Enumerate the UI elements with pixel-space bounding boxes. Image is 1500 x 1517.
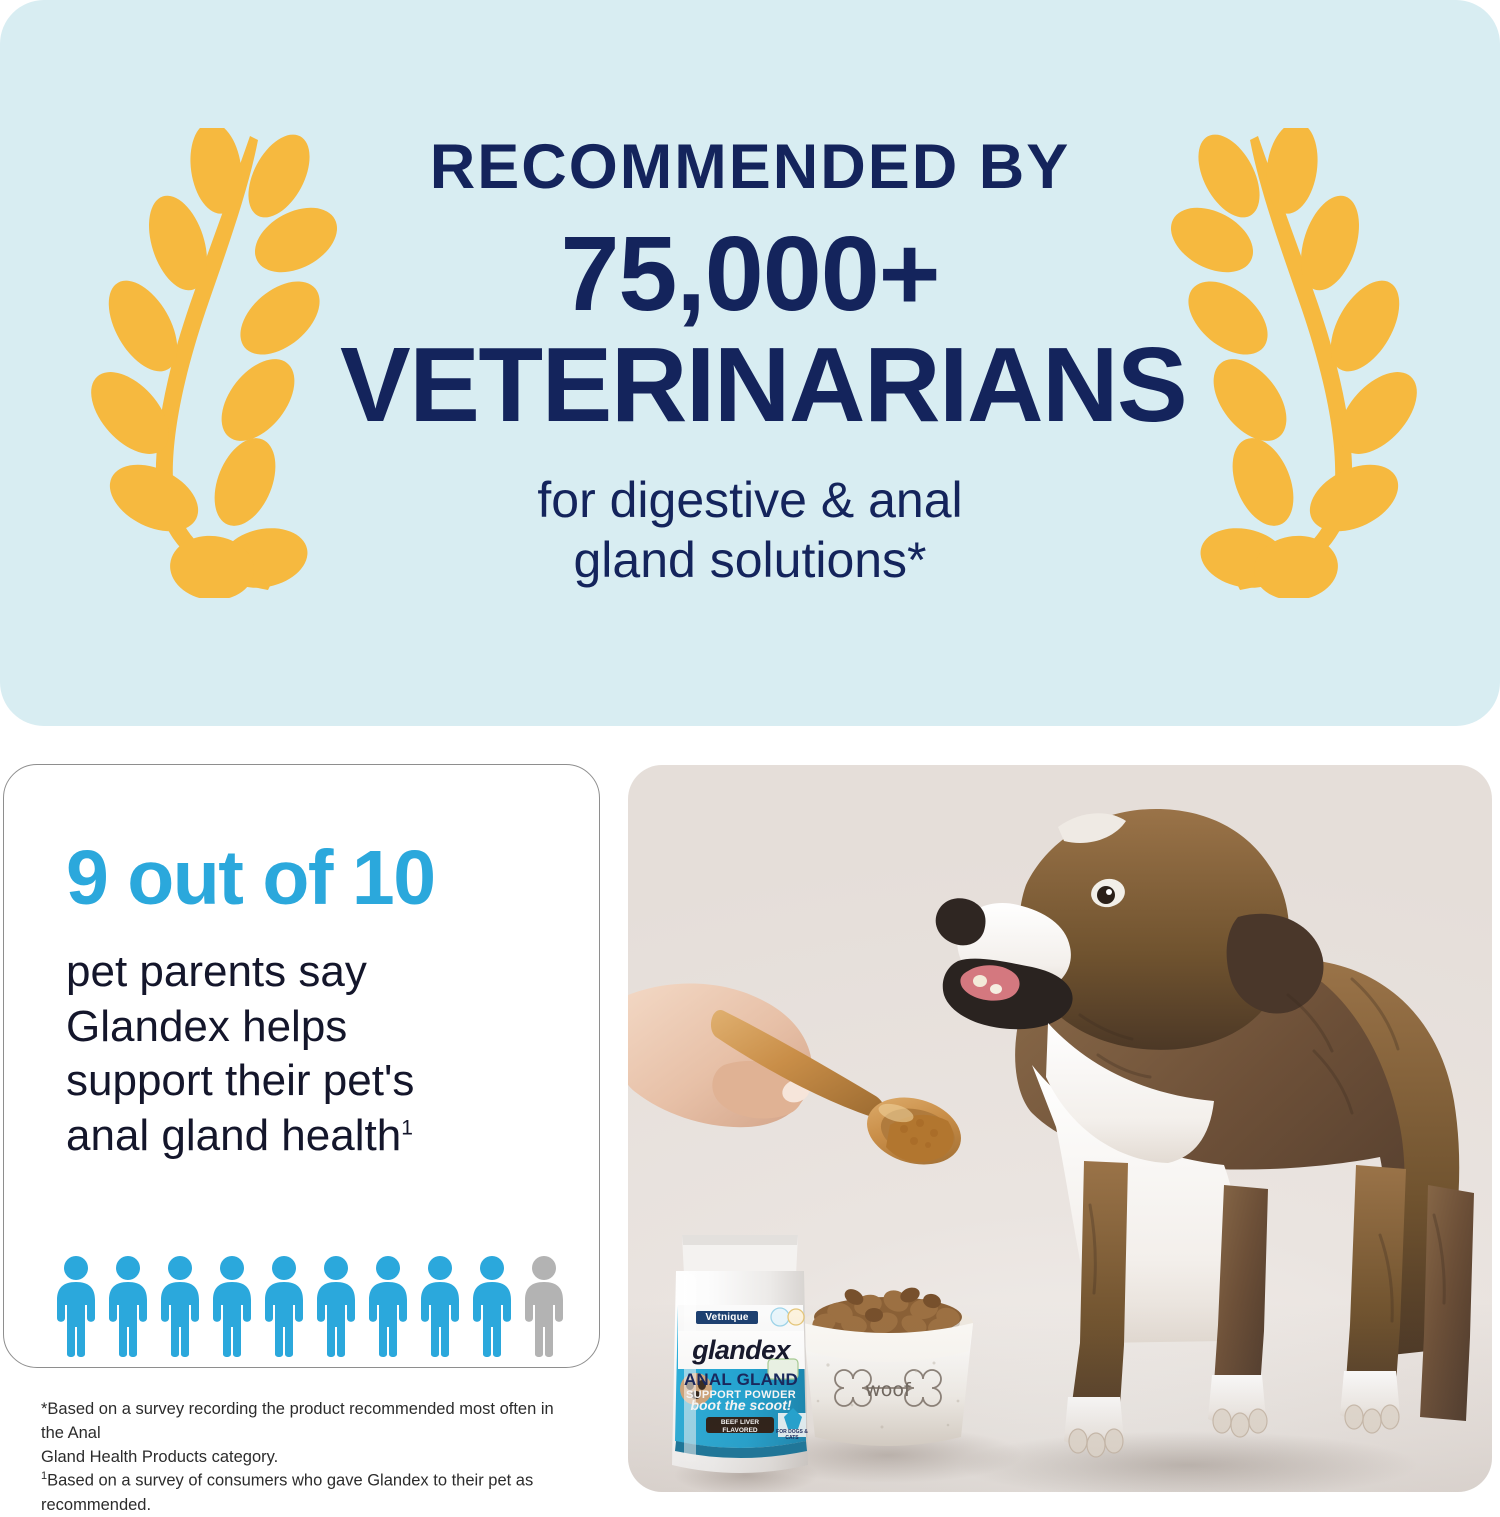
stat-body-line3: support their pet's [66,1056,414,1105]
footnote-line-1: *Based on a survey recording the product… [41,1398,571,1446]
banner-subtitle-line1: for digestive & anal [537,472,962,528]
stat-body-line4: anal gland health [66,1111,401,1160]
banner-subtitle: for digestive & anal gland solutions* [340,470,1160,590]
stat-body-footnote-marker: 1 [401,1116,413,1139]
stat-headline: 9 out of 10 [66,840,435,917]
banner-subtitle-line2: gland solutions* [573,532,926,588]
person-icon [52,1255,100,1359]
floor-shadow [628,1302,1492,1492]
footnotes: *Based on a survey recording the product… [41,1398,571,1517]
banner-audience: VETERINARIANS [340,331,1160,439]
person-icon [104,1255,152,1359]
product-lifestyle-photo: woof [628,765,1492,1492]
hand-with-spoon [628,983,969,1175]
banner-text-block: RECOMMENDED BY 75,000+ VETERINARIANS for… [340,136,1160,589]
person-icon [156,1255,204,1359]
footnote-line-3: 1Based on a survey of consumers who gave… [41,1469,571,1517]
stat-body-line1: pet parents say [66,947,367,996]
pictogram-people-row [52,1253,572,1359]
banner-number: 75,000+ [340,221,1160,327]
stat-body-line2: Glandex helps [66,1002,347,1051]
banner-eyebrow: RECOMMENDED BY [340,136,1160,199]
nine-out-of-ten-card: 9 out of 10 pet parents say Glandex help… [3,764,600,1368]
stat-body-text: pet parents say Glandex helps support th… [66,945,571,1163]
recommended-by-banner: RECOMMENDED BY 75,000+ VETERINARIANS for… [0,0,1500,726]
person-icon [312,1255,360,1359]
footnote-line-2: Gland Health Products category. [41,1446,571,1470]
person-icon [208,1255,256,1359]
person-icon [260,1255,308,1359]
person-icon [416,1255,464,1359]
person-icon [468,1255,516,1359]
person-icon-unfilled [520,1255,568,1359]
person-icon [364,1255,412,1359]
footnote-line-3-text: Based on a survey of consumers who gave … [41,1472,533,1514]
laurel-branch-icon-right [1146,128,1426,598]
